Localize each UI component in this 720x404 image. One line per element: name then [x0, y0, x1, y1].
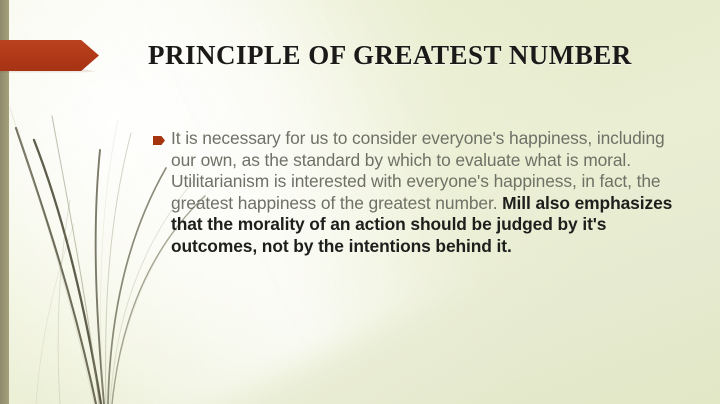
list-item: It is necessary for us to consider every… — [153, 128, 693, 258]
content-body: It is necessary for us to consider every… — [153, 128, 693, 258]
page-title: PRINCIPLE OF GREATEST NUMBER — [148, 38, 688, 72]
banner-body — [0, 40, 99, 71]
slide-canvas: PRINCIPLE OF GREATEST NUMBER It is neces… — [0, 0, 720, 404]
bullet-paragraph: It is necessary for us to consider every… — [171, 128, 693, 258]
arrow-bullet-icon — [153, 136, 165, 145]
right-arrow-banner — [0, 40, 99, 71]
